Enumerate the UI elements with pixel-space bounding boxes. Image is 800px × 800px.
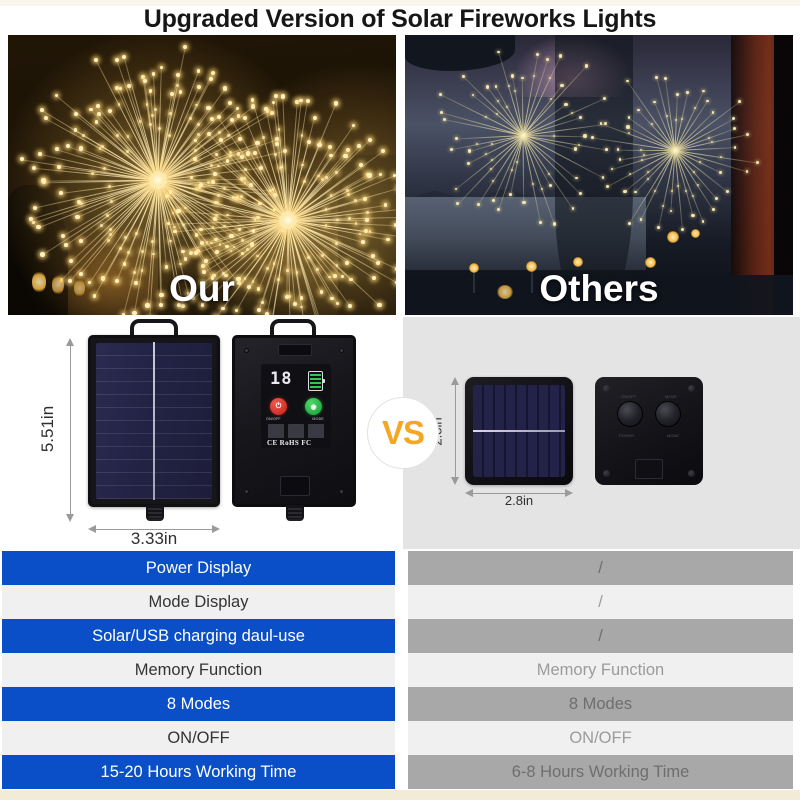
- touch-icon: [308, 424, 324, 438]
- cable-gland: [146, 505, 164, 521]
- burst-core: [519, 131, 528, 140]
- battery-compartment: [280, 476, 310, 496]
- table-row: Memory FunctionMemory Function: [0, 653, 800, 687]
- table-row: 8 Modes8 Modes: [0, 687, 800, 721]
- hero-image-our: Our: [8, 35, 396, 315]
- hero-label-our: Our: [8, 267, 396, 311]
- cell-busbar: [473, 430, 565, 432]
- table-row: Solar/USB charging daul-use/: [0, 619, 800, 653]
- dimension-width-label-others: 2.8in: [465, 493, 573, 508]
- feature-cell-others: Memory Function: [408, 653, 793, 687]
- feature-cell-our: ON/OFF: [2, 721, 395, 755]
- feature-cell-our: Solar/USB charging daul-use: [2, 619, 395, 653]
- dimension-line: [455, 384, 456, 478]
- screw: [603, 470, 610, 477]
- certification-marks: CE RoHS FC: [267, 439, 311, 447]
- feature-cell-others: /: [408, 585, 793, 619]
- bottom-accent-strip: [0, 790, 800, 800]
- feature-cell-our: Mode Display: [2, 585, 395, 619]
- hero-image-others: Others: [405, 35, 793, 315]
- feature-comparison-table: Power Display/Mode Display/Solar/USB cha…: [0, 551, 800, 791]
- cable-gland: [286, 505, 304, 521]
- screw: [244, 489, 249, 494]
- product-panel-our: 5.51in 3.33in: [0, 317, 403, 549]
- garden-light: [667, 231, 679, 243]
- burst-core: [671, 146, 680, 155]
- cell-busbar: [153, 342, 155, 500]
- dimension-width-label-our: 3.33in: [88, 529, 220, 549]
- feature-cell-our: 15-20 Hours Working Time: [2, 755, 395, 789]
- feature-cell-others: 8 Modes: [408, 687, 793, 721]
- solar-panel-front-others: [465, 377, 573, 485]
- infographic-page: Upgraded Version of Solar Fireworks Ligh…: [0, 0, 800, 800]
- feature-cell-our: 8 Modes: [2, 687, 395, 721]
- power-knob[interactable]: [617, 401, 643, 427]
- control-unit-our: 18 ⏻ ON/OFF ◉ MODE CE RoHS FC: [232, 331, 356, 521]
- brightness-icon: [268, 424, 284, 438]
- solar-panel-body: [88, 335, 220, 507]
- dimension-line: [70, 345, 71, 515]
- garden-light: [573, 257, 583, 267]
- screw: [339, 348, 344, 353]
- battery-icon: [308, 371, 323, 391]
- usb-port-top: [278, 344, 312, 356]
- screw: [688, 470, 695, 477]
- page-title: Upgraded Version of Solar Fireworks Ligh…: [0, 4, 800, 34]
- arrow-up-icon: [451, 377, 459, 385]
- garden-light: [691, 229, 700, 238]
- table-row: ON/OFFON/OFF: [0, 721, 800, 755]
- arrow-up-icon: [66, 338, 74, 346]
- mode-button[interactable]: ◉: [305, 398, 322, 415]
- table-row: Mode Display/: [0, 585, 800, 619]
- table-row: 15-20 Hours Working Time6-8 Hours Workin…: [0, 755, 800, 789]
- arrow-down-icon: [66, 514, 74, 522]
- screw: [339, 489, 344, 494]
- feature-cell-others: 6-8 Hours Working Time: [408, 755, 793, 789]
- feature-cell-our: Power Display: [2, 551, 395, 585]
- screw: [688, 385, 695, 392]
- dimension-height-label-our: 5.51in: [38, 399, 58, 459]
- mode-knob[interactable]: [655, 401, 681, 427]
- solar-panel-front-our: [88, 331, 220, 521]
- battery-compartment: [635, 459, 663, 479]
- dimension-height-others: [447, 377, 463, 485]
- vs-badge: VS: [367, 397, 439, 469]
- feature-cell-others: /: [408, 619, 793, 653]
- carry-handle: [270, 319, 316, 335]
- product-panel-others: 2.8in 2.8in ON/OFF MODE POWER MODE: [403, 317, 800, 549]
- feature-cell-others: /: [408, 551, 793, 585]
- arrow-down-icon: [451, 477, 459, 485]
- carry-handle: [130, 319, 178, 335]
- burst-core: [279, 211, 297, 229]
- dimension-height-our: [62, 338, 78, 522]
- control-unit-others: ON/OFF MODE POWER MODE: [595, 377, 703, 485]
- power-button-label: ON/OFF: [266, 417, 281, 421]
- power-button[interactable]: ⏻: [270, 398, 287, 415]
- hero-label-others: Others: [405, 267, 793, 311]
- battery-level-display: 18: [270, 371, 292, 388]
- screw: [603, 385, 610, 392]
- timer-icon: [288, 424, 304, 438]
- control-unit-body: 18 ⏻ ON/OFF ◉ MODE CE RoHS FC: [232, 335, 356, 507]
- control-pad: 18 ⏻ ON/OFF ◉ MODE CE RoHS FC: [261, 364, 331, 448]
- feature-cell-our: Memory Function: [2, 653, 395, 687]
- burst-core: [149, 171, 167, 189]
- screw: [244, 348, 249, 353]
- table-row: Power Display/: [0, 551, 800, 585]
- mode-button-label: MODE: [312, 417, 324, 421]
- feature-cell-others: ON/OFF: [408, 721, 793, 755]
